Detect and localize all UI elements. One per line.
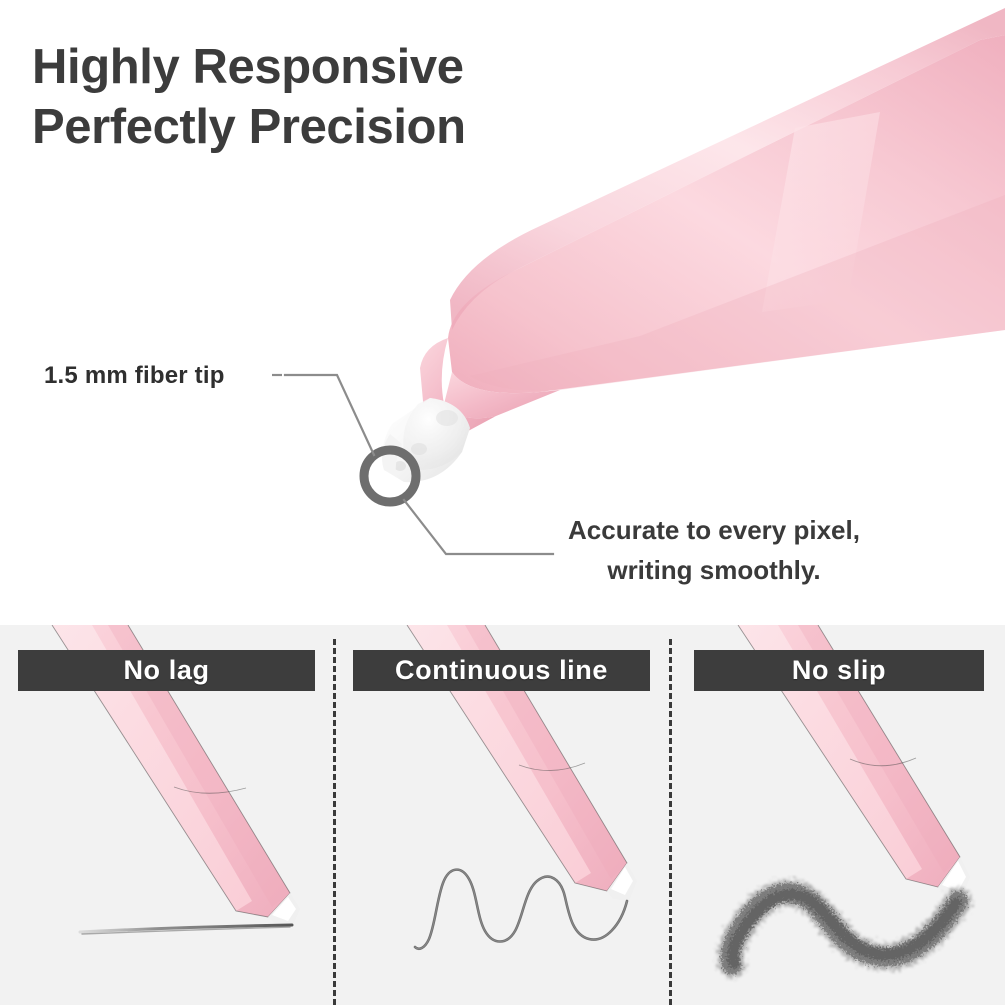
fiber-tip-callout-label: 1.5 mm fiber tip <box>44 362 225 390</box>
feature-banner-label: No lag <box>123 655 209 686</box>
feature-panel-no-slip: No slip <box>670 625 1005 1005</box>
feature-panel-continuous-line: Continuous line <box>335 625 670 1005</box>
feature-banner-label: Continuous line <box>395 655 608 686</box>
panel-divider-2 <box>669 639 672 1005</box>
feature-banner-continuous-line: Continuous line <box>353 650 650 691</box>
feature-panels: No lag <box>0 625 1005 1005</box>
product-feature-graphic: Highly Responsive Perfectly Precision 1.… <box>0 0 1005 1005</box>
feature-banner-no-lag: No lag <box>18 650 315 691</box>
accuracy-caption: Accurate to every pixel, writing smoothl… <box>534 511 894 590</box>
feature-banner-no-slip: No slip <box>694 650 984 691</box>
feature-banner-label: No slip <box>792 655 886 686</box>
hero-section: Highly Responsive Perfectly Precision 1.… <box>0 0 1005 625</box>
panel-divider-1 <box>333 639 336 1005</box>
feature-panel-no-lag: No lag <box>0 625 335 1005</box>
page-title: Highly Responsive Perfectly Precision <box>32 38 466 158</box>
